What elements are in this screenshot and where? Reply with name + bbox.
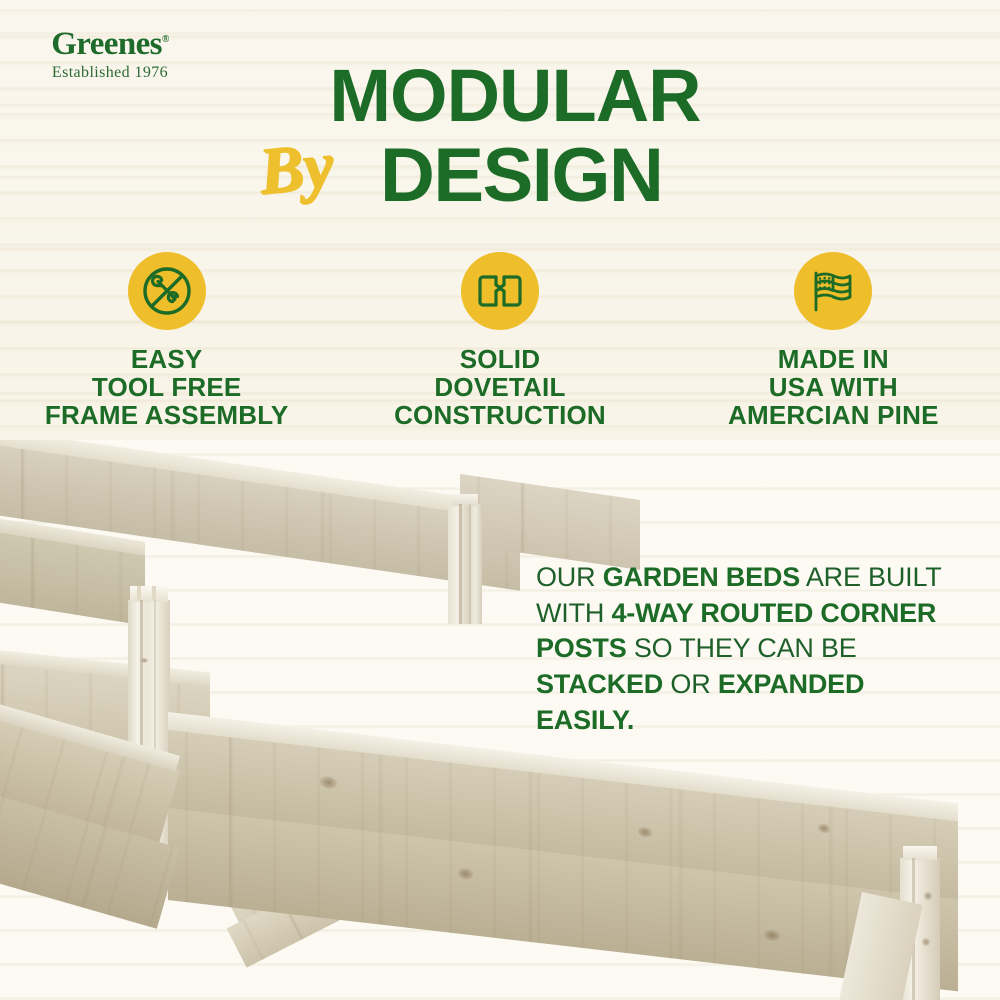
feature-item-dovetail: SOLID DOVETAIL CONSTRUCTION [350,252,650,429]
feature-badge [794,252,872,330]
body-copy-text: OUR GARDEN BEDS ARE BUILT WITH 4-WAY ROU… [536,560,956,738]
dovetail-joint-icon [475,266,525,316]
brand-name: Greenes® [51,28,169,61]
brand-tagline: Established 1976 [34,64,186,82]
feature-label-line: MADE IN [683,346,983,374]
copy-segment: OUR [536,562,603,592]
headline-line-2-row: By DESIGN [255,130,775,218]
copy-segment-bold: STACKED [536,669,663,699]
feature-label-line: TOOL FREE [17,374,317,402]
feature-label: MADE IN USA WITH AMERCIAN PINE [683,346,983,429]
copy-segment: SO THEY CAN BE [627,633,857,663]
feature-label-line: FRAME ASSEMBLY [17,402,317,430]
feature-label-line: SOLID [350,346,650,374]
feature-list: EASY TOOL FREE FRAME ASSEMBLY SOLID DOVE… [0,252,1000,429]
brand-logo: Greenes® Established 1976 [34,28,186,82]
registered-trademark-symbol: ® [162,34,169,45]
page-headline: MODULAR By DESIGN [255,62,775,218]
corner-post-rear-right [448,504,482,624]
feature-badge [128,252,206,330]
copy-segment: OR [663,669,718,699]
headline-line-1: MODULAR [255,62,775,130]
feature-label: EASY TOOL FREE FRAME ASSEMBLY [17,346,317,429]
feature-label-line: USA WITH [683,374,983,402]
feature-label-line: CONSTRUCTION [350,402,650,430]
feature-label-line: DOVETAIL [350,374,650,402]
headline-script-word: By [255,127,336,210]
feature-badge [461,252,539,330]
body-copy-block: OUR GARDEN BEDS ARE BUILT WITH 4-WAY ROU… [536,560,956,738]
feature-item-tool-free: EASY TOOL FREE FRAME ASSEMBLY [17,252,317,429]
copy-segment-bold: GARDEN BEDS [603,562,800,592]
feature-label: SOLID DOVETAIL CONSTRUCTION [350,346,650,429]
usa-flag-icon [807,265,859,317]
brand-name-text: Greenes [51,26,162,62]
feature-label-line: AMERCIAN PINE [683,402,983,430]
feature-item-made-in-usa: MADE IN USA WITH AMERCIAN PINE [683,252,983,429]
no-tools-icon [141,265,193,317]
headline-line-2: DESIGN [380,138,662,214]
feature-label-line: EASY [17,346,317,374]
